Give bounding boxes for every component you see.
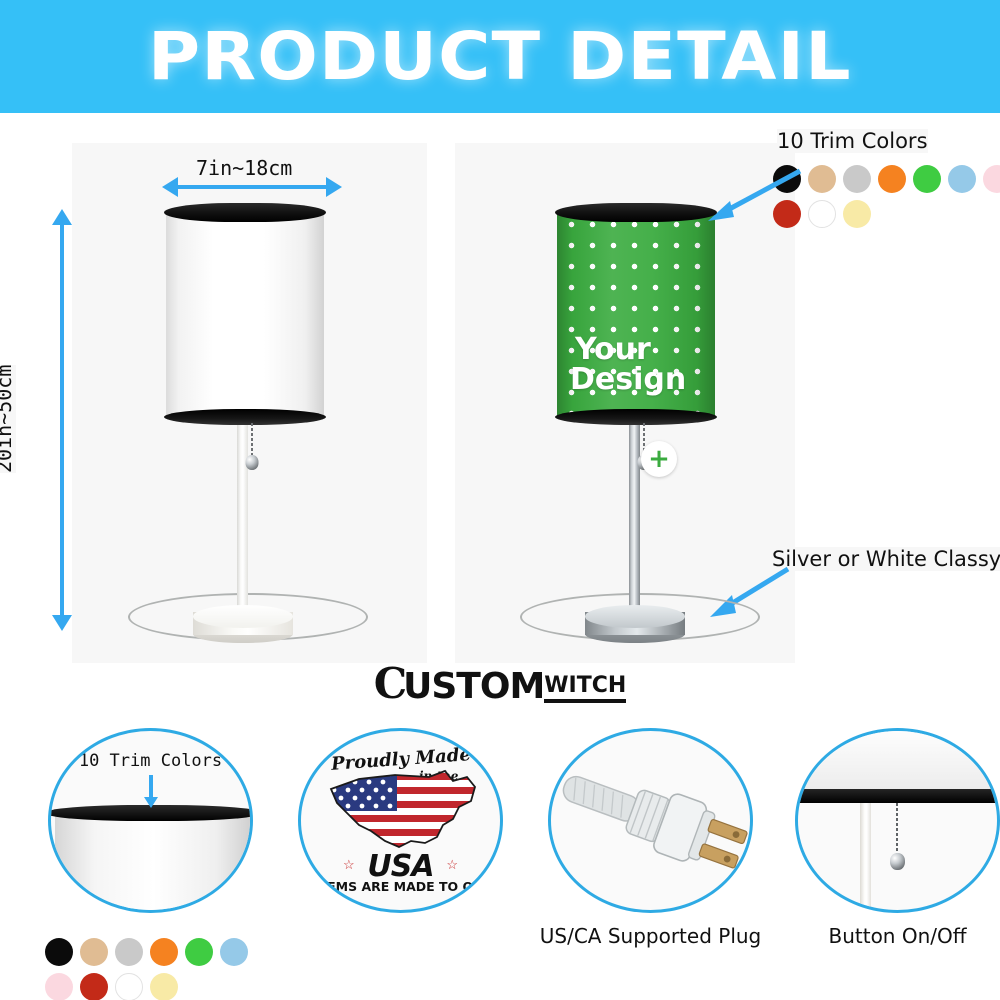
width-dimension-label: 7in~18cm bbox=[196, 156, 292, 180]
trim-color-swatch-black[interactable] bbox=[45, 938, 73, 966]
base-finish-callout-label: Silver or White Classy bbox=[772, 547, 1000, 571]
lamp-white-trim-top bbox=[164, 203, 326, 222]
lamp-green-trim-bottom bbox=[555, 409, 717, 425]
trim-color-swatch-green[interactable] bbox=[913, 165, 941, 193]
feature-button-caption: Button On/Off bbox=[828, 924, 966, 948]
trim-color-swatch-white[interactable] bbox=[115, 973, 143, 1000]
brand-name: USTOM bbox=[403, 669, 544, 705]
width-arrow-right-icon bbox=[326, 177, 342, 197]
lamp-green-trim-top bbox=[555, 203, 717, 222]
trim-colors-callout-label: 10 Trim Colors bbox=[777, 129, 928, 153]
page-title: PRODUCT DETAIL bbox=[148, 18, 852, 95]
lamp-white-base bbox=[193, 605, 293, 643]
lamp-white-shade-surface bbox=[166, 210, 324, 418]
trim-color-swatch-silver-gray[interactable] bbox=[115, 938, 143, 966]
usa-star-left-icon: ☆ bbox=[343, 857, 355, 873]
width-arrow-left-icon bbox=[162, 177, 178, 197]
product-detail-page: PRODUCT DETAIL 7in~18cm 20in~50cm bbox=[0, 0, 1000, 1000]
feature-trim-colors-label: 10 Trim Colors bbox=[79, 751, 222, 771]
product-stage: 7in~18cm 20in~50cm bbox=[0, 113, 1000, 660]
trim-color-swatch-white[interactable] bbox=[808, 200, 836, 228]
usa-tagline-text: ALL ITEMS ARE MADE TO ORDER! bbox=[298, 879, 503, 894]
trim-color-swatch-light-blue[interactable] bbox=[220, 938, 248, 966]
feature-plug-circle bbox=[548, 728, 753, 913]
brand-logo: C USTOM WITCH bbox=[0, 660, 1000, 708]
trim-color-swatch-orange[interactable] bbox=[150, 938, 178, 966]
feature-made-in-usa: Proudly Made in the bbox=[298, 728, 503, 913]
trim-color-swatch-silver-gray[interactable] bbox=[843, 165, 871, 193]
feature-plug: US/CA Supported Plug bbox=[548, 728, 753, 913]
trim-color-swatch-green[interactable] bbox=[185, 938, 213, 966]
feature-button-onoff: Button On/Off bbox=[795, 728, 1000, 913]
height-dimension-line bbox=[60, 225, 64, 615]
trim-color-swatch-pale-yellow[interactable] bbox=[843, 200, 871, 228]
add-design-plus-icon[interactable]: + bbox=[641, 441, 677, 477]
button-black-trim bbox=[795, 789, 1000, 803]
base-top-face bbox=[193, 605, 293, 628]
height-dimension-label: 20in~50cm bbox=[0, 365, 16, 473]
height-arrow-down-icon bbox=[52, 615, 72, 631]
trim-color-swatch-orange[interactable] bbox=[878, 165, 906, 193]
trim-color-swatch-tan[interactable] bbox=[80, 938, 108, 966]
usa-flag-map-icon bbox=[325, 767, 485, 853]
button-lamp-pole bbox=[860, 803, 871, 913]
brand-suffix: WITCH bbox=[544, 675, 626, 703]
feature-trim-colors-circle: 10 Trim Colors bbox=[48, 728, 253, 913]
pull-chain-ball-icon bbox=[246, 455, 259, 470]
button-shade-crop bbox=[795, 728, 1000, 791]
usa-star-right-icon: ☆ bbox=[446, 857, 458, 873]
trim-colors-arrow-head-icon bbox=[144, 797, 158, 808]
trim-color-swatch-pink[interactable] bbox=[983, 165, 1000, 193]
base-top-face bbox=[585, 605, 685, 628]
trim-colors-pointer-arrow-icon bbox=[700, 165, 810, 225]
bottom-trim-colors-swatch-strip[interactable] bbox=[45, 938, 275, 1000]
trim-colors-arrow-shaft-icon bbox=[149, 775, 153, 799]
design-text-line1: Your bbox=[575, 335, 651, 365]
trim-color-swatch-light-blue[interactable] bbox=[948, 165, 976, 193]
button-chain-ball-icon[interactable] bbox=[890, 853, 905, 870]
trim-color-swatch-red[interactable] bbox=[80, 973, 108, 1000]
feature-button-circle bbox=[795, 728, 1000, 913]
button-chain-line-icon bbox=[896, 803, 898, 855]
trim-color-swatch-pink[interactable] bbox=[45, 973, 73, 1000]
height-arrow-up-icon bbox=[52, 209, 72, 225]
lamp-white-pull-chain[interactable] bbox=[245, 423, 259, 461]
brand-c-glyph: C bbox=[374, 663, 403, 705]
trim-color-swatch-tan[interactable] bbox=[808, 165, 836, 193]
lamp-green-base bbox=[585, 605, 685, 643]
feature-trim-colors: 10 Trim Colors bbox=[48, 728, 253, 913]
power-plug-icon bbox=[551, 731, 753, 913]
lamp-white-shade bbox=[166, 210, 324, 418]
feature-made-in-usa-circle: Proudly Made in the bbox=[298, 728, 503, 913]
header-banner: PRODUCT DETAIL bbox=[0, 0, 1000, 113]
design-text-line2: Design bbox=[570, 365, 686, 395]
trim-colors-shade-crop bbox=[55, 815, 252, 913]
trim-color-swatch-pale-yellow[interactable] bbox=[150, 973, 178, 1000]
width-dimension-line bbox=[178, 185, 326, 189]
feature-plug-caption: US/CA Supported Plug bbox=[540, 924, 761, 948]
